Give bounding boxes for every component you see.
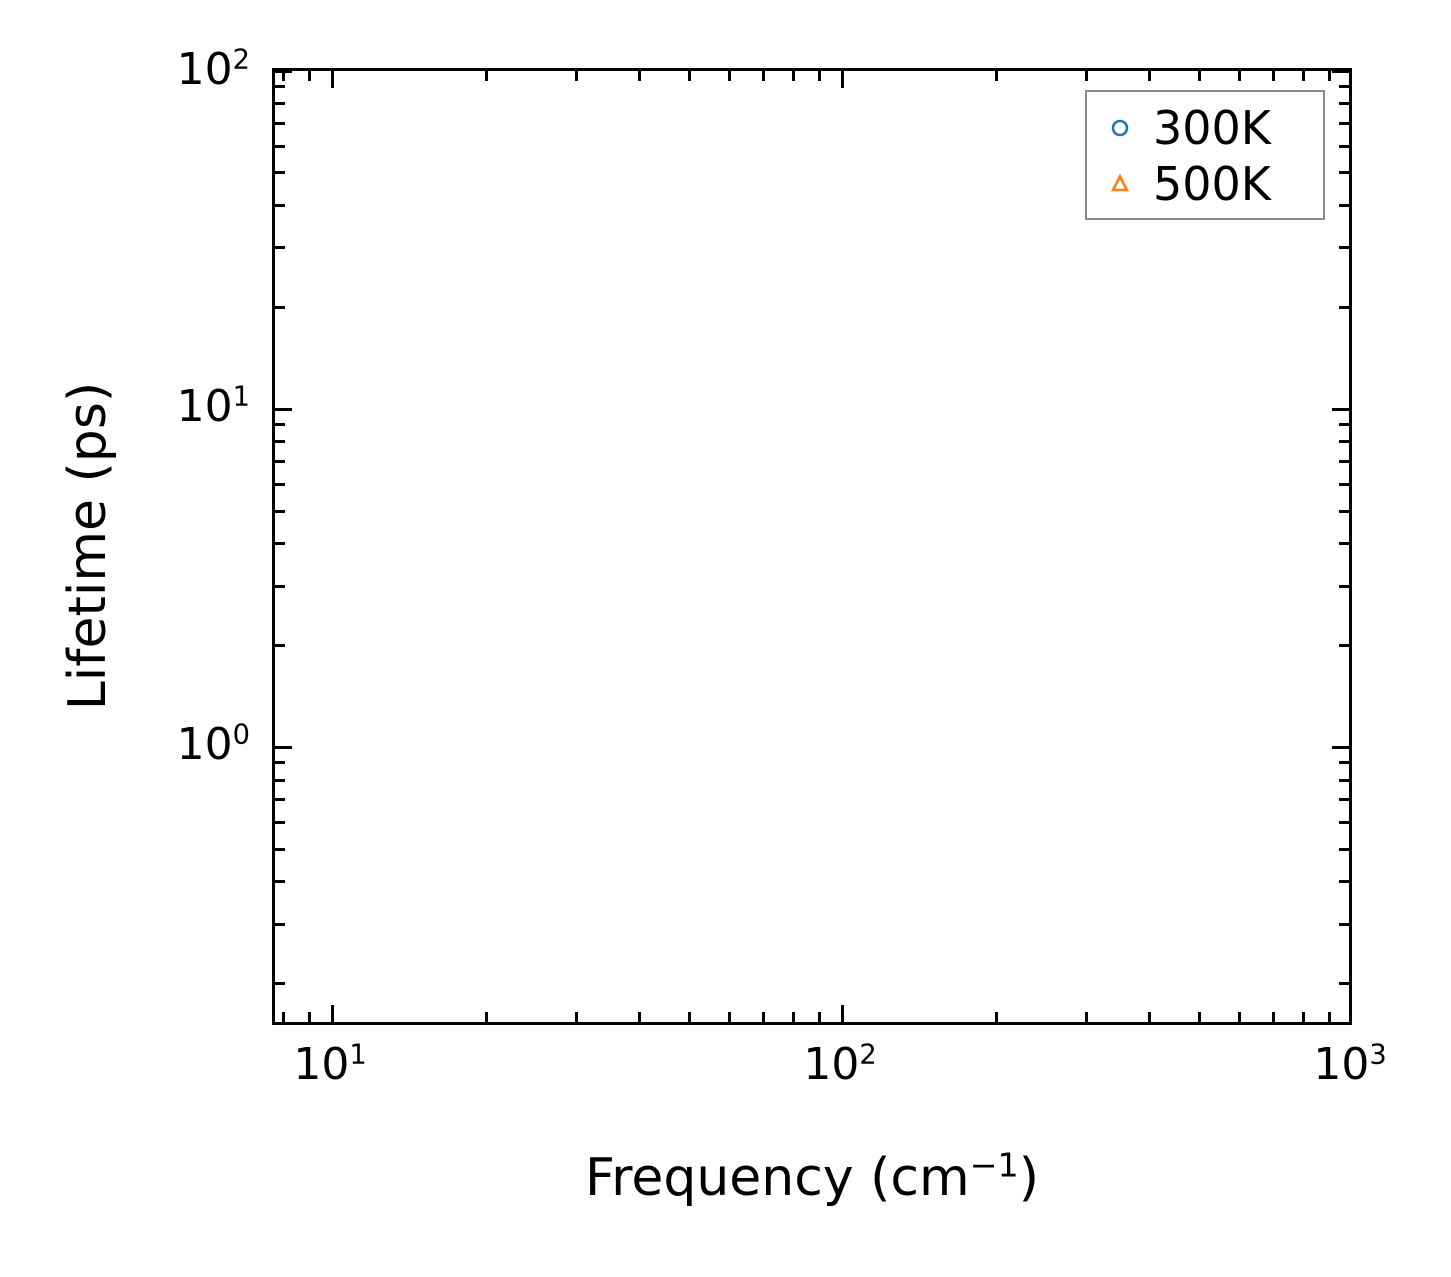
y-minor-tick-right xyxy=(1339,423,1349,426)
y-minor-tick-right xyxy=(1339,306,1349,309)
x-major-tick xyxy=(1351,1005,1352,1022)
x-major-tick-top xyxy=(1351,71,1352,88)
x-minor-tick-top xyxy=(1148,71,1151,81)
x-minor-tick xyxy=(308,1012,311,1022)
x-minor-tick-top xyxy=(762,71,765,81)
y-minor-tick xyxy=(275,542,285,545)
y-minor-tick xyxy=(275,880,285,883)
y-minor-tick-right xyxy=(1339,204,1349,207)
x-minor-tick xyxy=(688,1012,691,1022)
x-minor-tick-top xyxy=(575,71,578,81)
x-minor-tick-top xyxy=(1328,71,1331,81)
x-minor-tick-top xyxy=(818,71,821,81)
x-minor-tick-top xyxy=(995,71,998,81)
x-major-tick-top xyxy=(331,71,334,88)
x-minor-tick xyxy=(1328,1012,1331,1022)
x-minor-tick xyxy=(1272,1012,1275,1022)
x-minor-tick xyxy=(792,1012,795,1022)
x-minor-tick-top xyxy=(1302,71,1305,81)
y-minor-tick xyxy=(275,644,285,647)
x-axis-title: Frequency (cm−1) xyxy=(585,1148,1039,1208)
y-minor-tick xyxy=(275,460,285,463)
y-minor-tick-right xyxy=(1339,483,1349,486)
x-tick-label-10: 101 xyxy=(293,1043,366,1087)
y-minor-tick-right xyxy=(1339,798,1349,801)
y-minor-tick-right xyxy=(1339,246,1349,249)
y-tick-label-100: 102 xyxy=(177,48,250,92)
y-major-tick-right xyxy=(1332,408,1349,411)
y-minor-tick-right xyxy=(1339,585,1349,588)
x-minor-tick-top xyxy=(728,71,731,81)
y-minor-tick-right xyxy=(1339,460,1349,463)
y-major-tick-right xyxy=(1332,70,1349,73)
y-minor-tick-right xyxy=(1339,122,1349,125)
x-minor-tick xyxy=(995,1012,998,1022)
y-minor-tick xyxy=(275,798,285,801)
y-minor-tick-right xyxy=(1339,542,1349,545)
x-minor-tick-top xyxy=(638,71,641,81)
legend-entry-500k[interactable]: 500K xyxy=(1087,156,1323,212)
x-minor-tick xyxy=(485,1012,488,1022)
x-minor-tick-top xyxy=(1085,71,1088,81)
legend-circle-marker-icon xyxy=(1087,115,1153,141)
y-minor-tick-right xyxy=(1339,510,1349,513)
legend[interactable]: 300K 500K xyxy=(1085,90,1325,220)
legend-entry-300k[interactable]: 300K xyxy=(1087,100,1323,156)
x-minor-tick xyxy=(1238,1012,1241,1022)
y-minor-tick-right xyxy=(1339,821,1349,824)
x-minor-tick xyxy=(575,1012,578,1022)
x-minor-tick-top xyxy=(485,71,488,81)
x-minor-tick xyxy=(1302,1012,1305,1022)
x-minor-tick-top xyxy=(1238,71,1241,81)
y-tick-label-10: 101 xyxy=(177,385,250,429)
y-minor-tick-right xyxy=(1339,982,1349,985)
y-minor-tick xyxy=(275,246,285,249)
y-minor-tick-right xyxy=(1339,85,1349,88)
y-minor-tick xyxy=(275,204,285,207)
x-minor-tick xyxy=(1198,1012,1201,1022)
y-minor-tick xyxy=(275,122,285,125)
x-minor-tick xyxy=(1085,1012,1088,1022)
y-minor-tick xyxy=(275,848,285,851)
x-minor-tick xyxy=(282,1012,285,1022)
y-tick-label-1: 100 xyxy=(177,723,250,767)
y-minor-tick xyxy=(275,761,285,764)
y-minor-tick-right xyxy=(1339,923,1349,926)
y-minor-tick xyxy=(275,102,285,105)
y-minor-tick xyxy=(275,306,285,309)
y-minor-tick xyxy=(275,585,285,588)
x-tick-label-1000: 103 xyxy=(1313,1043,1386,1087)
x-major-tick xyxy=(331,1005,334,1022)
phonon-lifetime-figure: 102 101 100 101 102 103 Frequency (cm−1)… xyxy=(0,0,1451,1277)
x-minor-tick-top xyxy=(1272,71,1275,81)
x-minor-tick-top xyxy=(792,71,795,81)
y-minor-tick-right xyxy=(1339,779,1349,782)
y-minor-tick xyxy=(275,982,285,985)
y-major-tick xyxy=(275,746,292,749)
y-minor-tick xyxy=(275,423,285,426)
y-minor-tick-right xyxy=(1339,440,1349,443)
x-minor-tick xyxy=(1148,1012,1151,1022)
y-axis-title: Lifetime (ps) xyxy=(58,382,118,710)
x-minor-tick-top xyxy=(308,71,311,81)
y-minor-tick-right xyxy=(1339,171,1349,174)
x-minor-tick xyxy=(728,1012,731,1022)
y-minor-tick-right xyxy=(1339,880,1349,883)
x-minor-tick xyxy=(638,1012,641,1022)
y-minor-tick xyxy=(275,510,285,513)
x-minor-tick xyxy=(818,1012,821,1022)
x-major-tick xyxy=(841,1005,844,1022)
x-minor-tick-top xyxy=(1198,71,1201,81)
y-minor-tick xyxy=(275,440,285,443)
y-minor-tick xyxy=(275,145,285,148)
y-minor-tick-right xyxy=(1339,102,1349,105)
y-minor-tick xyxy=(275,85,285,88)
y-minor-tick-right xyxy=(1339,848,1349,851)
x-minor-tick-top xyxy=(688,71,691,81)
x-tick-label-100: 102 xyxy=(803,1043,876,1087)
y-minor-tick xyxy=(275,779,285,782)
y-minor-tick xyxy=(275,923,285,926)
x-minor-tick xyxy=(762,1012,765,1022)
legend-triangle-marker-icon xyxy=(1087,171,1153,197)
x-minor-tick-top xyxy=(282,71,285,81)
y-minor-tick-right xyxy=(1339,761,1349,764)
y-minor-tick xyxy=(275,821,285,824)
y-minor-tick xyxy=(275,483,285,486)
legend-label-500k: 500K xyxy=(1153,161,1271,207)
legend-label-300k: 300K xyxy=(1153,105,1271,151)
x-major-tick-top xyxy=(841,71,844,88)
y-minor-tick xyxy=(275,171,285,174)
y-minor-tick-right xyxy=(1339,644,1349,647)
y-minor-tick-right xyxy=(1339,145,1349,148)
y-major-tick xyxy=(275,408,292,411)
y-major-tick-right xyxy=(1332,746,1349,749)
